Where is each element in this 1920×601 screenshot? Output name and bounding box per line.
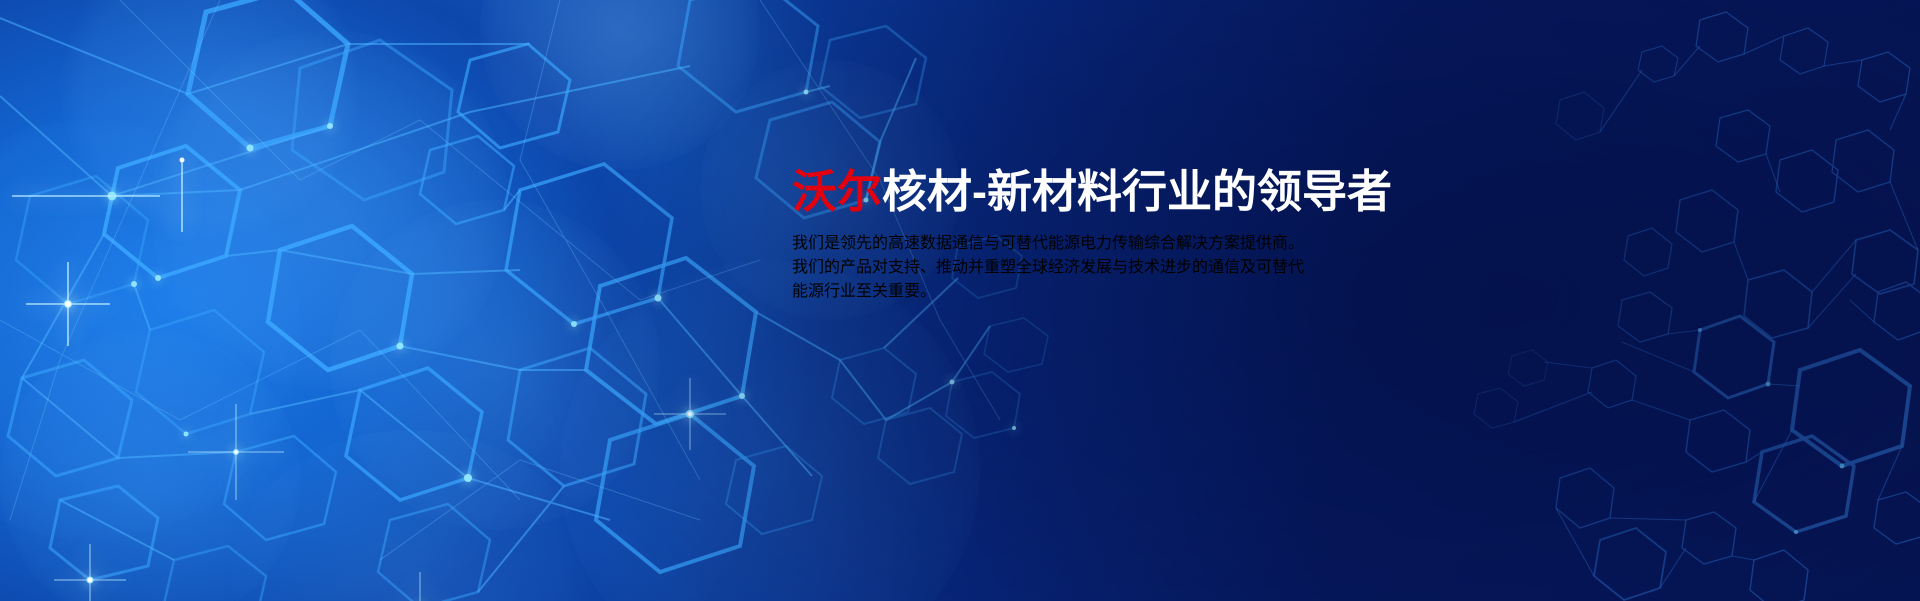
page-title: 沃尔核材-新材料行业的领导者 bbox=[792, 168, 1432, 215]
brand-name: 沃尔 bbox=[792, 166, 882, 217]
hero-banner: 沃尔核材-新材料行业的领导者 我们是领先的高速数据通信与可替代能源电力传输综合解… bbox=[0, 0, 1920, 601]
hero-text-block: 沃尔核材-新材料行业的领导者 我们是领先的高速数据通信与可替代能源电力传输综合解… bbox=[792, 168, 1432, 317]
description-line: 我们的产品对支持、推动并重塑全球经济发展与技术进步的通信及可替代 bbox=[792, 253, 1432, 277]
description-line: 我们是领先的高速数据通信与可替代能源电力传输综合解决方案提供商。 bbox=[792, 229, 1432, 253]
description-line: 能源行业至关重要。 bbox=[792, 277, 1432, 301]
headline-rest: 核材-新材料行业的领导者 bbox=[882, 166, 1392, 217]
